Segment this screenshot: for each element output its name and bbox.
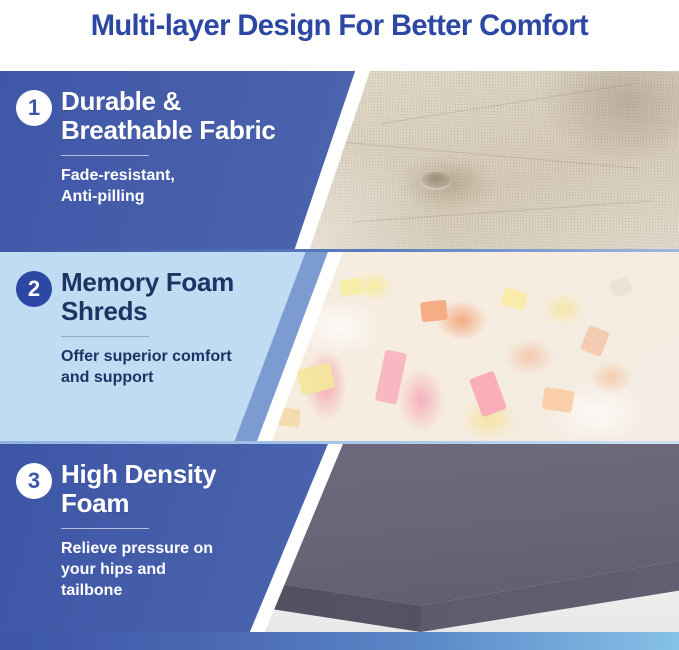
- panel-2-divider: [61, 336, 149, 337]
- panel-1-subtext: Fade-resistant, Anti-pilling: [61, 165, 316, 207]
- panel-3-subtext: Relieve pressure on your hips and tailbo…: [61, 538, 316, 601]
- page-title: Multi-layer Design For Better Comfort: [91, 9, 588, 43]
- panel-3-heading: High Density Foam: [61, 460, 216, 519]
- panel-1-heading-row: 1 Durable & Breathable Fabric: [16, 87, 316, 146]
- panel-3-subtext-line3: tailbone: [61, 580, 316, 601]
- panel-2-heading-row: 2 Memory Foam Shreds: [16, 268, 316, 327]
- infographic-page: Multi-layer Design For Better Comfort 1 …: [0, 0, 679, 650]
- panel-3-heading-line1: High Density: [61, 460, 216, 489]
- step-number-badge-2: 2: [16, 271, 52, 307]
- panel-2-heading: Memory Foam Shreds: [61, 268, 234, 327]
- panel-1-heading: Durable & Breathable Fabric: [61, 87, 276, 146]
- step-number-badge-3: 3: [16, 463, 52, 499]
- panel-3-subtext-line2: your hips and: [61, 559, 316, 580]
- panel-3-heading-row: 3 High Density Foam: [16, 460, 316, 519]
- feature-panel-3: 3 High Density Foam Relieve pressure on …: [0, 444, 679, 632]
- panel-2-subtext-line1: Offer superior comfort: [61, 346, 316, 367]
- panel-2-heading-line2: Shreds: [61, 297, 234, 326]
- page-title-bar: Multi-layer Design For Better Comfort: [0, 0, 679, 52]
- panel-1-subtext-line1: Fade-resistant,: [61, 165, 316, 186]
- panel-1-content: 1 Durable & Breathable Fabric Fade-resis…: [16, 87, 316, 207]
- panel-3-subtext-line1: Relieve pressure on: [61, 538, 316, 559]
- panel-2-heading-line1: Memory Foam: [61, 268, 234, 297]
- feature-panel-2: 2 Memory Foam Shreds Offer superior comf…: [0, 252, 679, 442]
- feature-panel-1: 1 Durable & Breathable Fabric Fade-resis…: [0, 71, 679, 251]
- panel-1-divider: [61, 155, 149, 156]
- panel-3-content: 3 High Density Foam Relieve pressure on …: [16, 460, 316, 601]
- panel-3-divider: [61, 528, 149, 529]
- panel-3-heading-line2: Foam: [61, 489, 216, 518]
- panel-1-heading-line1: Durable &: [61, 87, 276, 116]
- step-number-badge-1: 1: [16, 90, 52, 126]
- panel-2-subtext-line2: and support: [61, 367, 316, 388]
- panel-1-heading-line2: Breathable Fabric: [61, 116, 276, 145]
- panel-2-subtext: Offer superior comfort and support: [61, 346, 316, 388]
- panel-2-content: 2 Memory Foam Shreds Offer superior comf…: [16, 268, 316, 388]
- panel-1-subtext-line2: Anti-pilling: [61, 186, 316, 207]
- bottom-accent-bar: [0, 632, 679, 650]
